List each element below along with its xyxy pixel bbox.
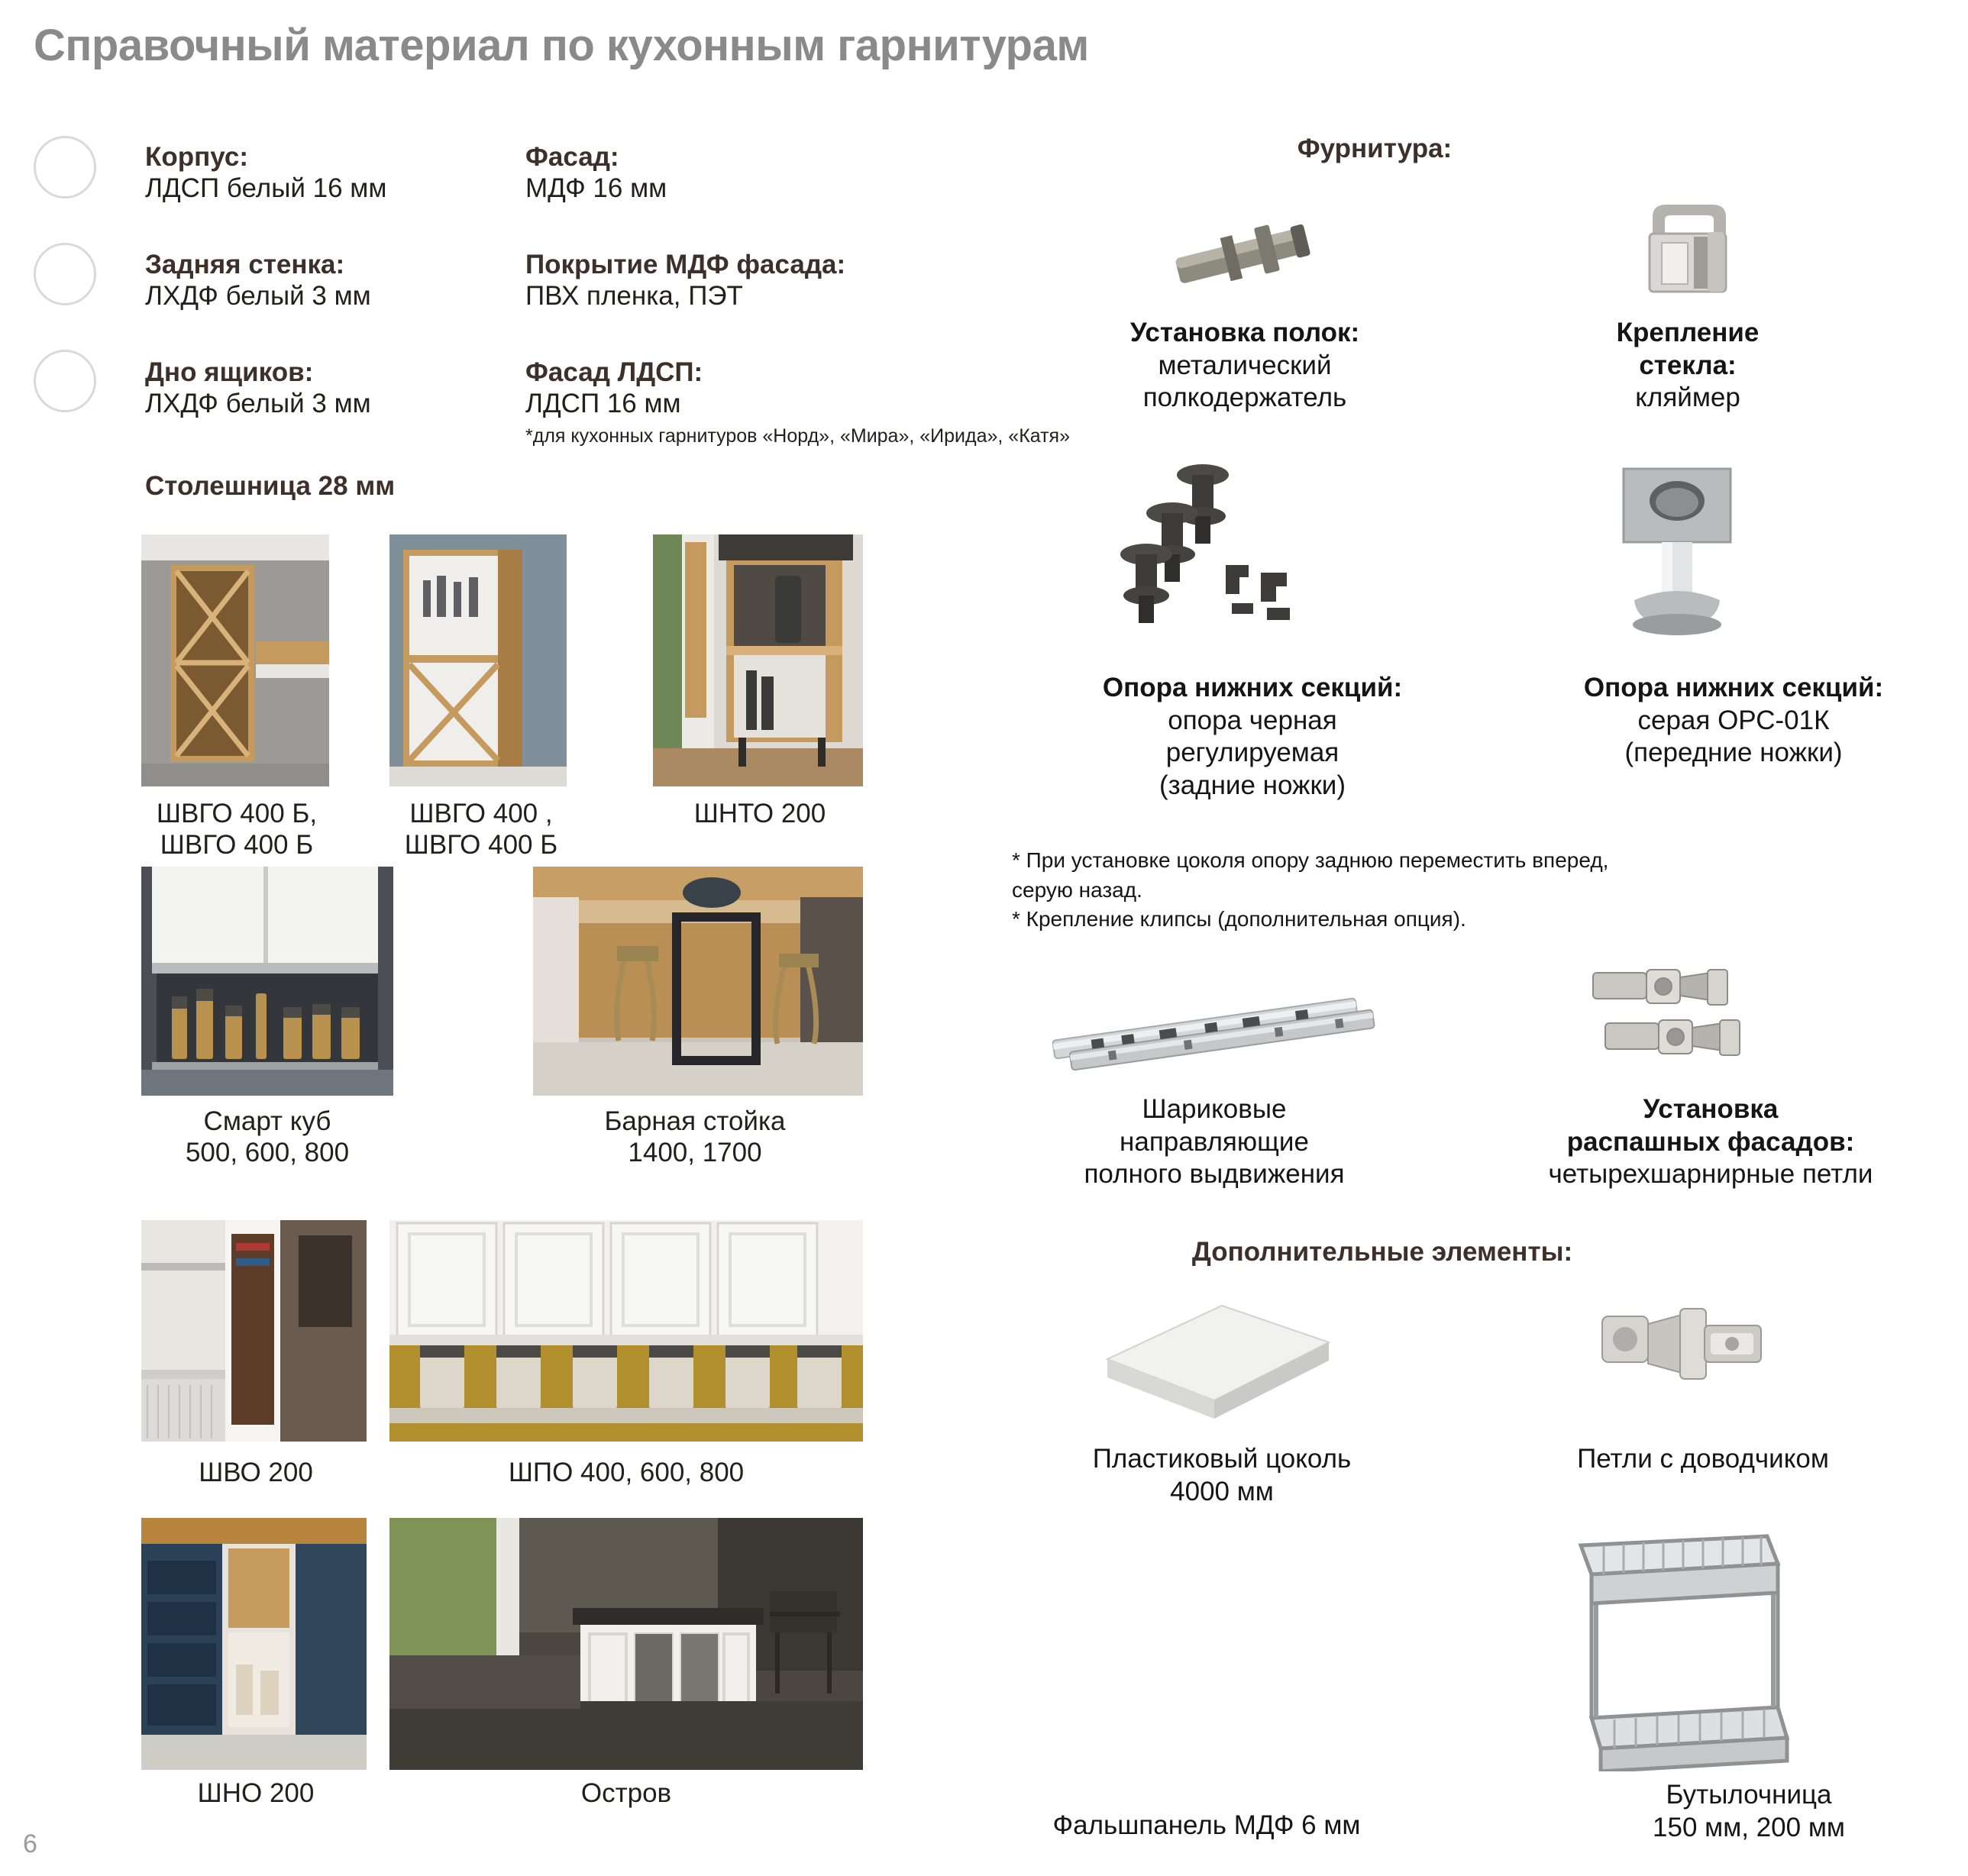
ball-bearing-slide-image [1046, 993, 1398, 1084]
page-title: Справочный материал по кухонным гарнитур… [34, 20, 1089, 71]
bullet-circle-1 [34, 136, 96, 199]
hardware-title-2: Опора нижних секций: [1016, 672, 1489, 705]
tall-open-shelf-photo [653, 534, 863, 786]
bar-counter-photo [533, 867, 863, 1096]
spec-back-wall: Задняя стенка: ЛХДФ белый 3 мм [145, 250, 371, 312]
spice-shelf-photo [389, 1220, 863, 1442]
wine-rack-grey-wall-photo [141, 534, 329, 786]
hardware-value-4: Шариковые направляющие полного выдвижени… [1023, 1093, 1405, 1191]
bullet-circle-2 [34, 243, 96, 305]
spec-facade-ldsp-value: ЛДСП 16 мм [525, 388, 1070, 420]
hardware-value-3: серая ОРС-01К (передние ножки) [1497, 705, 1968, 770]
bullet-circle-3 [34, 350, 96, 412]
hardware-title-5: Установка распашных фасадов: [1451, 1093, 1968, 1158]
kitchen-island-photo [389, 1518, 863, 1770]
hardware-caption-3: Опора нижних секций: серая ОРС-01К (пере… [1497, 672, 1968, 770]
smart-cube-photo [141, 867, 393, 1096]
spec-countertop: Столешница 28 мм [145, 471, 395, 502]
product-caption-3: Смарт куб 500, 600, 800 [118, 1106, 416, 1169]
spec-korpus-value: ЛДСП белый 16 мм [145, 173, 386, 205]
product-caption-2: ШНТО 200 [638, 798, 882, 829]
hardware-caption-2: Опора нижних секций: опора черная регули… [1016, 672, 1489, 802]
hardware-caption-0: Установка полок: металический полкодержа… [1054, 317, 1436, 415]
four-hinge-image [1573, 962, 1772, 1084]
hardware-heading: Фурнитура: [1191, 134, 1558, 164]
hardware-title-3: Опора нижних секций: [1497, 672, 1968, 705]
page-number: 6 [23, 1829, 37, 1859]
hardware-value-0: металический полкодержатель [1054, 350, 1436, 415]
product-caption-8: Остров [428, 1778, 825, 1809]
spec-drawer-bottom-title: Дно ящиков: [145, 357, 371, 388]
product-photo-1 [389, 534, 567, 786]
extras-value-1: Петли с доводчиком [1504, 1443, 1902, 1476]
product-photo-5 [141, 1220, 367, 1442]
spec-facade-ldsp: Фасад ЛДСП: ЛДСП 16 мм *для кухонных гар… [525, 357, 1070, 449]
bottle-holder-image [1550, 1519, 1802, 1771]
product-photo-8 [389, 1518, 863, 1770]
glass-clamp-image [1627, 197, 1749, 304]
extras-caption-3: Бутылочница 150 мм, 200 мм [1550, 1779, 1947, 1844]
product-photo-4 [533, 867, 863, 1096]
narrow-open-wall-photo [141, 1220, 367, 1442]
hardware-notes: * При установке цоколя опору заднюю пере… [1012, 846, 1913, 935]
black-adjustable-leg-image [1111, 458, 1333, 641]
spec-drawer-bottom: Дно ящиков: ЛХДФ белый 3 мм [145, 357, 371, 420]
hardware-caption-5: Установка распашных фасадов: четырехшарн… [1451, 1093, 1968, 1191]
product-caption-5: ШВО 200 [134, 1457, 378, 1488]
extras-caption-0: Пластиковый цоколь 4000 мм [1023, 1443, 1420, 1508]
spec-korpus-title: Корпус: [145, 142, 386, 173]
product-photo-2 [653, 534, 863, 786]
product-caption-4: Барная стойка 1400, 1700 [527, 1106, 863, 1169]
extras-heading: Дополнительные элементы: [1115, 1237, 1650, 1267]
spec-back-wall-value: ЛХДФ белый 3 мм [145, 280, 371, 312]
soft-close-hinge-image [1588, 1283, 1779, 1428]
product-caption-1: ШВГО 400 , ШВГО 400 Б [367, 798, 596, 861]
wine-rack-blue-wall-photo [389, 534, 567, 786]
product-photo-6 [389, 1220, 863, 1442]
spec-facade-coating: Покрытие МДФ фасада: ПВХ пленка, ПЭТ [525, 250, 845, 312]
spec-facade-ldsp-note: *для кухонных гарнитуров «Норд», «Мира»,… [525, 425, 1070, 448]
product-caption-7: ШНО 200 [134, 1778, 378, 1809]
extras-caption-1: Петли с доводчиком [1504, 1443, 1902, 1476]
spec-facade-ldsp-title: Фасад ЛДСП: [525, 357, 1070, 388]
spec-facade-coating-value: ПВХ пленка, ПЭТ [525, 280, 845, 312]
blue-base-open-photo [141, 1518, 367, 1770]
spec-korpus: Корпус: ЛДСП белый 16 мм [145, 142, 386, 205]
grey-front-leg-image [1588, 458, 1764, 649]
extras-value-0: Пластиковый цоколь 4000 мм [1023, 1443, 1420, 1508]
spec-facade-value: МДФ 16 мм [525, 173, 667, 205]
product-photo-3 [141, 867, 393, 1096]
reference-page: Справочный материал по кухонным гарнитур… [0, 0, 1968, 1876]
extras-value-2: Фальшпанель МДФ 6 мм [993, 1810, 1420, 1842]
spec-facade-title: Фасад: [525, 142, 667, 173]
product-caption-0: ШВГО 400 Б, ШВГО 400 Б [115, 798, 359, 861]
product-photo-7 [141, 1518, 367, 1770]
product-caption-6: ШПО 400, 600, 800 [428, 1457, 825, 1488]
hardware-title-1: Крепление стекла: [1527, 317, 1848, 382]
hardware-caption-1: Крепление стекла: кляймер [1527, 317, 1848, 415]
extras-value-3: Бутылочница 150 мм, 200 мм [1550, 1779, 1947, 1844]
hardware-title-0: Установка полок: [1054, 317, 1436, 350]
shelf-support-pin-image [1146, 206, 1336, 305]
spec-facade: Фасад: МДФ 16 мм [525, 142, 667, 205]
plastic-plinth-image [1092, 1298, 1344, 1435]
spec-facade-coating-title: Покрытие МДФ фасада: [525, 250, 845, 280]
spec-back-wall-title: Задняя стенка: [145, 250, 371, 280]
hardware-value-1: кляймер [1527, 382, 1848, 415]
hardware-value-2: опора черная регулируемая (задние ножки) [1016, 705, 1489, 802]
hardware-caption-4: Шариковые направляющие полного выдвижени… [1023, 1093, 1405, 1191]
product-photo-0 [141, 534, 329, 786]
hardware-value-5: четырехшарнирные петли [1451, 1158, 1968, 1191]
spec-drawer-bottom-value: ЛХДФ белый 3 мм [145, 388, 371, 420]
extras-caption-2: Фальшпанель МДФ 6 мм [993, 1810, 1420, 1842]
